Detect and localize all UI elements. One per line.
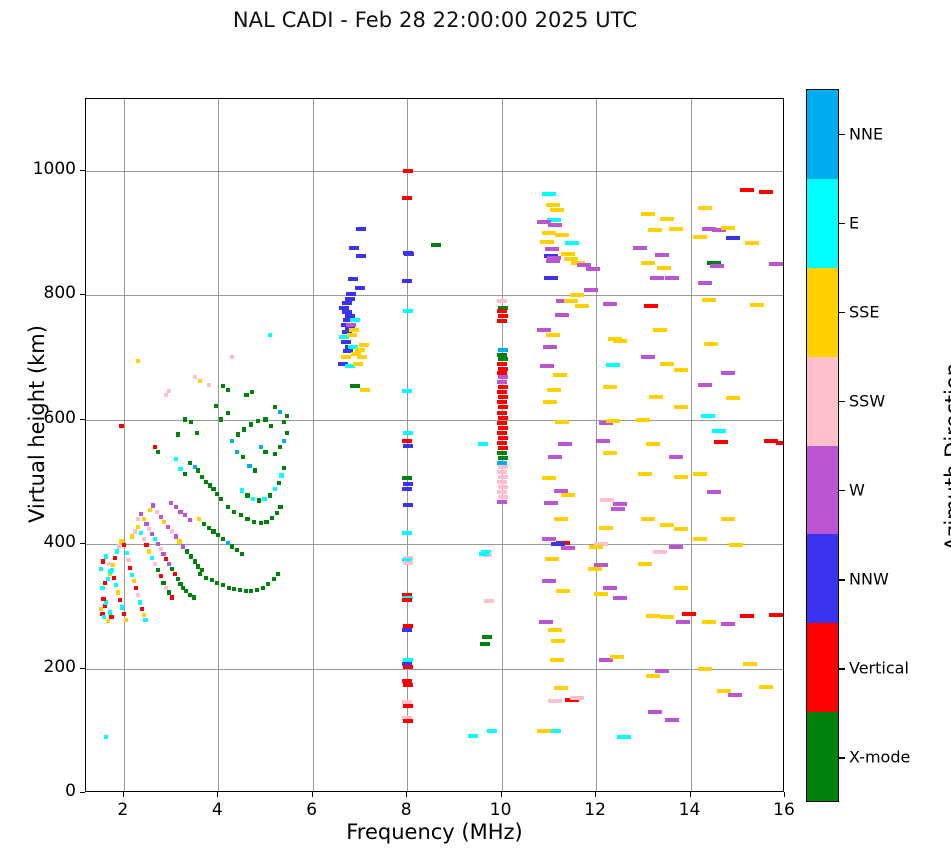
data-point bbox=[263, 450, 267, 454]
data-point bbox=[130, 573, 134, 577]
data-point bbox=[181, 544, 185, 548]
data-point bbox=[553, 373, 567, 377]
colorbar-segment-vertical[interactable] bbox=[807, 623, 838, 712]
data-point bbox=[285, 414, 289, 418]
data-point bbox=[252, 520, 256, 524]
data-point bbox=[550, 658, 564, 662]
y-tick bbox=[80, 294, 85, 295]
y-tick-label: 0 bbox=[6, 781, 76, 801]
data-point bbox=[161, 581, 165, 585]
data-point bbox=[259, 445, 263, 449]
data-point bbox=[189, 420, 193, 424]
data-point bbox=[196, 468, 200, 472]
data-point bbox=[617, 735, 631, 739]
data-point bbox=[660, 615, 674, 619]
data-point bbox=[542, 231, 556, 235]
x-tick-label: 10 bbox=[478, 800, 524, 820]
data-point bbox=[646, 674, 660, 678]
data-point bbox=[551, 639, 565, 643]
data-point bbox=[726, 236, 740, 240]
data-point bbox=[714, 440, 728, 444]
data-point bbox=[353, 362, 363, 366]
x-tick bbox=[595, 792, 596, 797]
data-point bbox=[215, 492, 219, 496]
data-point bbox=[278, 445, 282, 449]
data-point bbox=[156, 568, 160, 572]
data-point bbox=[282, 420, 286, 424]
data-point bbox=[555, 420, 569, 424]
data-point bbox=[603, 385, 617, 389]
data-point bbox=[101, 597, 105, 601]
data-point bbox=[153, 537, 157, 541]
data-point bbox=[603, 451, 617, 455]
data-point bbox=[232, 587, 236, 591]
data-point bbox=[431, 243, 441, 247]
data-point bbox=[116, 590, 120, 594]
data-point bbox=[122, 612, 126, 616]
data-point bbox=[403, 431, 413, 435]
data-point bbox=[655, 669, 669, 673]
data-point bbox=[641, 261, 655, 265]
data-point bbox=[498, 416, 508, 420]
data-point bbox=[162, 520, 166, 524]
data-point bbox=[468, 734, 478, 738]
data-point bbox=[140, 607, 144, 611]
data-point bbox=[346, 292, 356, 296]
data-point bbox=[478, 442, 488, 446]
data-point bbox=[120, 605, 124, 609]
data-point bbox=[235, 450, 239, 454]
data-point bbox=[555, 233, 569, 237]
data-point bbox=[586, 267, 600, 271]
colorbar-tick-label-ssw: SSW bbox=[849, 391, 885, 410]
data-point bbox=[698, 206, 712, 210]
data-point bbox=[498, 357, 508, 361]
data-point bbox=[342, 310, 352, 314]
data-point bbox=[498, 375, 508, 379]
data-point bbox=[498, 456, 508, 460]
data-point bbox=[702, 298, 716, 302]
data-point bbox=[202, 522, 206, 526]
data-point bbox=[144, 543, 148, 547]
data-point bbox=[497, 470, 507, 474]
data-point bbox=[657, 266, 671, 270]
data-point bbox=[575, 304, 589, 308]
data-point bbox=[183, 417, 187, 421]
y-tick-label: 1000 bbox=[6, 159, 76, 179]
data-point bbox=[558, 442, 572, 446]
data-point bbox=[177, 539, 181, 543]
data-point bbox=[219, 497, 223, 501]
data-point bbox=[497, 380, 507, 384]
data-point bbox=[548, 455, 562, 459]
data-point bbox=[226, 541, 230, 545]
data-point bbox=[542, 476, 556, 480]
data-point bbox=[219, 417, 223, 421]
data-point bbox=[613, 596, 627, 600]
data-point bbox=[360, 388, 370, 392]
data-point bbox=[729, 543, 743, 547]
colorbar-segment-nnw[interactable] bbox=[807, 534, 838, 623]
data-point bbox=[270, 516, 274, 520]
data-point bbox=[544, 276, 558, 280]
data-point bbox=[159, 574, 163, 578]
x-tick-label: 16 bbox=[761, 800, 807, 820]
data-point bbox=[268, 493, 272, 497]
data-point bbox=[240, 552, 244, 556]
data-point bbox=[341, 340, 351, 344]
colorbar-tick bbox=[839, 757, 845, 758]
data-point bbox=[561, 493, 575, 497]
data-point bbox=[255, 588, 259, 592]
data-point bbox=[740, 188, 754, 192]
data-point bbox=[712, 429, 726, 433]
data-point bbox=[721, 371, 735, 375]
data-point bbox=[170, 595, 174, 599]
data-point bbox=[402, 598, 412, 602]
data-point bbox=[497, 500, 507, 504]
data-point bbox=[99, 567, 103, 571]
colorbar-segment-sse[interactable] bbox=[807, 268, 838, 357]
data-point bbox=[111, 563, 115, 567]
data-point bbox=[170, 567, 174, 571]
data-point bbox=[402, 531, 412, 535]
colorbar-segment-e[interactable] bbox=[807, 179, 838, 268]
data-point bbox=[548, 699, 562, 703]
data-point bbox=[264, 520, 268, 524]
data-point bbox=[542, 192, 556, 196]
data-point bbox=[242, 427, 246, 431]
data-point bbox=[403, 503, 413, 507]
colorbar-tick bbox=[839, 401, 845, 402]
colorbar-segment-w[interactable] bbox=[807, 446, 838, 535]
data-point bbox=[118, 598, 122, 602]
data-point bbox=[134, 586, 138, 590]
data-point bbox=[613, 502, 627, 506]
data-point bbox=[355, 348, 365, 352]
data-point bbox=[660, 362, 674, 366]
data-point bbox=[273, 405, 277, 409]
data-point bbox=[497, 362, 507, 366]
data-point bbox=[674, 527, 688, 531]
data-point bbox=[282, 466, 286, 470]
data-point bbox=[215, 581, 219, 585]
data-point bbox=[147, 527, 151, 531]
data-point bbox=[674, 405, 688, 409]
data-point bbox=[721, 517, 735, 521]
data-point bbox=[178, 510, 182, 514]
data-point bbox=[278, 410, 282, 414]
data-point bbox=[139, 531, 143, 535]
data-point bbox=[674, 368, 688, 372]
data-point bbox=[216, 533, 220, 537]
data-point bbox=[126, 558, 130, 562]
data-point bbox=[653, 328, 667, 332]
data-point bbox=[227, 586, 231, 590]
colorbar-tick-label-nne: NNE bbox=[849, 124, 883, 143]
data-point bbox=[142, 613, 146, 617]
data-point bbox=[565, 241, 579, 245]
data-point bbox=[497, 441, 507, 445]
y-axis-label: Virtual height (km) bbox=[25, 264, 49, 584]
data-point bbox=[230, 439, 234, 443]
data-point bbox=[349, 246, 359, 250]
data-point bbox=[275, 511, 279, 515]
data-point bbox=[660, 217, 674, 221]
data-point bbox=[164, 393, 168, 397]
data-point bbox=[498, 405, 508, 409]
data-point bbox=[611, 507, 625, 511]
data-point bbox=[144, 522, 148, 526]
data-point bbox=[660, 523, 674, 527]
data-point bbox=[226, 388, 230, 392]
data-point bbox=[646, 614, 660, 618]
data-point bbox=[669, 545, 683, 549]
data-point bbox=[674, 586, 688, 590]
data-point bbox=[479, 552, 489, 556]
data-point bbox=[545, 557, 559, 561]
data-point bbox=[359, 343, 369, 347]
data-point bbox=[693, 235, 707, 239]
data-point bbox=[546, 203, 560, 207]
data-point bbox=[261, 586, 265, 590]
x-tick bbox=[501, 792, 502, 797]
data-point bbox=[128, 566, 132, 570]
data-point bbox=[167, 389, 171, 393]
data-point bbox=[200, 475, 204, 479]
data-point bbox=[403, 719, 413, 723]
data-point bbox=[350, 318, 360, 322]
data-point bbox=[115, 549, 119, 553]
data-point bbox=[546, 259, 560, 263]
data-point bbox=[556, 589, 570, 593]
data-point bbox=[403, 169, 413, 173]
data-point bbox=[497, 490, 507, 494]
data-point bbox=[726, 396, 740, 400]
data-point bbox=[356, 254, 366, 258]
data-point bbox=[606, 363, 620, 367]
data-point bbox=[704, 342, 718, 346]
data-point bbox=[106, 577, 110, 581]
y-tick bbox=[80, 792, 85, 793]
data-point bbox=[273, 452, 277, 456]
data-point bbox=[106, 619, 110, 623]
data-point bbox=[188, 518, 192, 522]
data-point bbox=[198, 572, 202, 576]
colorbar-tick-label-sse: SSE bbox=[849, 302, 879, 321]
data-point bbox=[193, 559, 197, 563]
data-point bbox=[103, 581, 107, 585]
data-point bbox=[124, 618, 128, 622]
data-point bbox=[101, 559, 105, 563]
data-point bbox=[350, 384, 360, 388]
data-point bbox=[214, 404, 218, 408]
data-point bbox=[555, 313, 569, 317]
colorbar-tick-label-w: W bbox=[849, 481, 865, 500]
data-point bbox=[150, 556, 154, 560]
data-point bbox=[402, 487, 412, 491]
data-point bbox=[543, 345, 557, 349]
colorbar-segment-nne[interactable] bbox=[807, 90, 838, 179]
data-point bbox=[497, 480, 507, 484]
data-point bbox=[221, 384, 225, 388]
data-point bbox=[497, 431, 507, 435]
data-point bbox=[603, 302, 617, 306]
data-point bbox=[285, 431, 289, 435]
data-point bbox=[655, 253, 669, 257]
data-point bbox=[113, 556, 117, 560]
data-point bbox=[185, 549, 189, 553]
data-point bbox=[561, 252, 575, 256]
data-point bbox=[402, 196, 412, 200]
data-point bbox=[161, 552, 165, 556]
data-point bbox=[403, 482, 413, 486]
data-point bbox=[648, 710, 662, 714]
data-point bbox=[119, 424, 123, 428]
data-point bbox=[195, 431, 199, 435]
data-point bbox=[584, 288, 598, 292]
figure-canvas: NAL CADI - Feb 28 22:00:00 2025 UTC 2468… bbox=[0, 0, 951, 856]
data-point bbox=[610, 655, 624, 659]
data-point bbox=[169, 501, 173, 505]
data-point bbox=[100, 586, 104, 590]
data-point bbox=[594, 592, 608, 596]
data-point bbox=[279, 473, 283, 477]
data-point bbox=[402, 439, 412, 443]
data-point bbox=[769, 613, 783, 617]
data-point bbox=[638, 472, 652, 476]
colorbar-tick bbox=[839, 490, 845, 491]
colorbar[interactable] bbox=[806, 89, 839, 802]
figure-title: NAL CADI - Feb 28 22:00:00 2025 UTC bbox=[0, 8, 870, 32]
y-tick bbox=[80, 668, 85, 669]
data-point bbox=[221, 537, 225, 541]
data-point bbox=[156, 450, 160, 454]
data-point bbox=[403, 561, 413, 565]
data-point bbox=[211, 529, 215, 533]
data-point bbox=[497, 451, 507, 455]
data-point bbox=[148, 508, 152, 512]
data-point bbox=[345, 297, 355, 301]
data-point bbox=[245, 517, 249, 521]
data-point bbox=[235, 548, 239, 552]
data-point bbox=[550, 208, 564, 212]
x-tick-label: 12 bbox=[572, 800, 618, 820]
data-point bbox=[648, 228, 662, 232]
data-point bbox=[674, 475, 688, 479]
data-point bbox=[257, 498, 261, 502]
data-point bbox=[247, 464, 251, 468]
data-point bbox=[147, 549, 151, 553]
data-point bbox=[241, 455, 245, 459]
data-point bbox=[268, 333, 272, 337]
data-point bbox=[745, 241, 759, 245]
x-tick-label: 14 bbox=[667, 800, 713, 820]
data-point bbox=[740, 614, 754, 618]
colorbar-tick bbox=[839, 312, 845, 313]
data-point bbox=[497, 319, 507, 323]
data-point bbox=[221, 583, 225, 587]
data-point bbox=[349, 328, 359, 332]
data-point bbox=[136, 359, 140, 363]
x-tick-label: 4 bbox=[194, 800, 240, 820]
data-point bbox=[497, 309, 507, 313]
data-point bbox=[721, 622, 735, 626]
data-point bbox=[239, 513, 243, 517]
data-point bbox=[665, 276, 679, 280]
data-point bbox=[117, 544, 121, 548]
data-point bbox=[548, 223, 562, 227]
data-point bbox=[150, 532, 154, 536]
plot-area[interactable] bbox=[85, 98, 784, 792]
data-point bbox=[402, 279, 412, 283]
data-point bbox=[759, 190, 773, 194]
data-point bbox=[178, 467, 182, 471]
data-point bbox=[543, 400, 557, 404]
data-point bbox=[114, 583, 118, 587]
data-point bbox=[498, 385, 508, 389]
data-point bbox=[207, 383, 211, 387]
colorbar-tick bbox=[839, 134, 845, 135]
colorbar-tick-label-e: E bbox=[849, 213, 859, 232]
data-point bbox=[498, 495, 508, 499]
colorbar-segment-ssw[interactable] bbox=[807, 357, 838, 446]
data-point bbox=[151, 503, 155, 507]
data-point bbox=[613, 339, 627, 343]
data-point bbox=[497, 390, 507, 394]
data-point bbox=[136, 593, 140, 597]
data-point bbox=[698, 383, 712, 387]
data-point bbox=[570, 293, 584, 297]
data-point bbox=[278, 505, 282, 509]
data-point bbox=[136, 517, 140, 521]
data-point bbox=[641, 212, 655, 216]
x-axis-label: Frequency (MHz) bbox=[85, 820, 784, 844]
data-point bbox=[262, 497, 266, 501]
data-point bbox=[174, 457, 178, 461]
data-point bbox=[641, 355, 655, 359]
data-point bbox=[545, 247, 559, 251]
data-point bbox=[728, 693, 742, 697]
data-point bbox=[669, 227, 683, 231]
data-point bbox=[176, 577, 180, 581]
data-point bbox=[189, 554, 193, 558]
y-tick-label: 200 bbox=[6, 657, 76, 677]
data-point bbox=[282, 439, 286, 443]
data-point bbox=[750, 303, 764, 307]
data-point bbox=[497, 400, 507, 404]
colorbar-segment-x-mode[interactable] bbox=[807, 712, 838, 801]
data-point bbox=[743, 662, 757, 666]
data-point bbox=[174, 505, 178, 509]
y-tick bbox=[80, 170, 85, 171]
data-point bbox=[482, 635, 492, 639]
colorbar-tick bbox=[839, 668, 845, 669]
data-point bbox=[537, 328, 551, 332]
data-point bbox=[554, 517, 568, 521]
data-point bbox=[544, 501, 558, 505]
data-point bbox=[245, 493, 249, 497]
data-point bbox=[342, 301, 352, 305]
data-point bbox=[589, 545, 603, 549]
data-point bbox=[693, 537, 707, 541]
data-point bbox=[244, 589, 248, 593]
data-point bbox=[484, 599, 494, 603]
data-point bbox=[540, 364, 554, 368]
data-point bbox=[130, 534, 134, 538]
data-point bbox=[188, 461, 192, 465]
data-point bbox=[249, 422, 253, 426]
